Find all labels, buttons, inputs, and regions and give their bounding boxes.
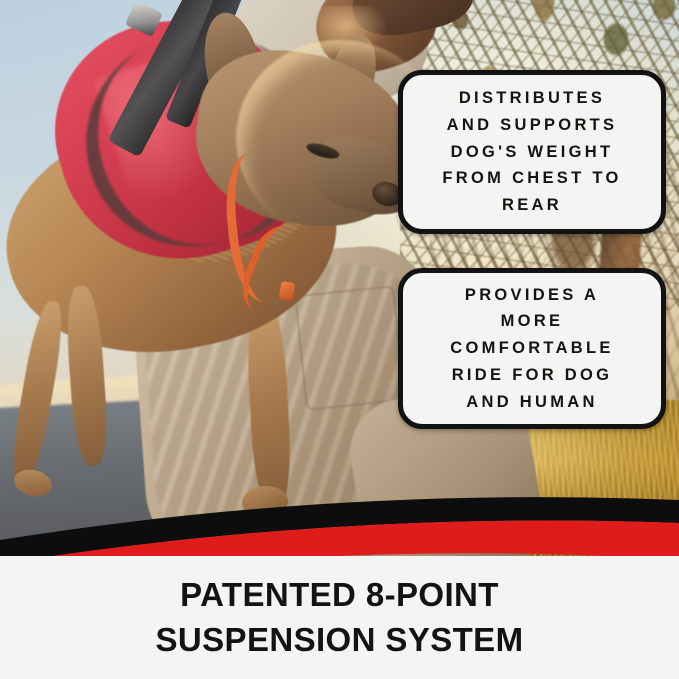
feature-callout-2: Provides a more comfortable ride for dog… bbox=[398, 268, 666, 429]
bottom-banner: Patented 8-Point Suspension System bbox=[0, 556, 679, 679]
banner-headline-line-2: Suspension System bbox=[156, 618, 524, 662]
feature-callout-2-text: Provides a more comfortable ride for dog… bbox=[436, 282, 627, 416]
feature-callout-1: Distributes and supports dog's weight fr… bbox=[398, 70, 666, 234]
feature-callout-1-text: Distributes and supports dog's weight fr… bbox=[428, 85, 635, 219]
banner-headline-line-1: Patented 8-Point bbox=[180, 573, 499, 617]
product-feature-image: Distributes and supports dog's weight fr… bbox=[0, 0, 679, 679]
pants-cargo-pocket bbox=[294, 285, 406, 411]
